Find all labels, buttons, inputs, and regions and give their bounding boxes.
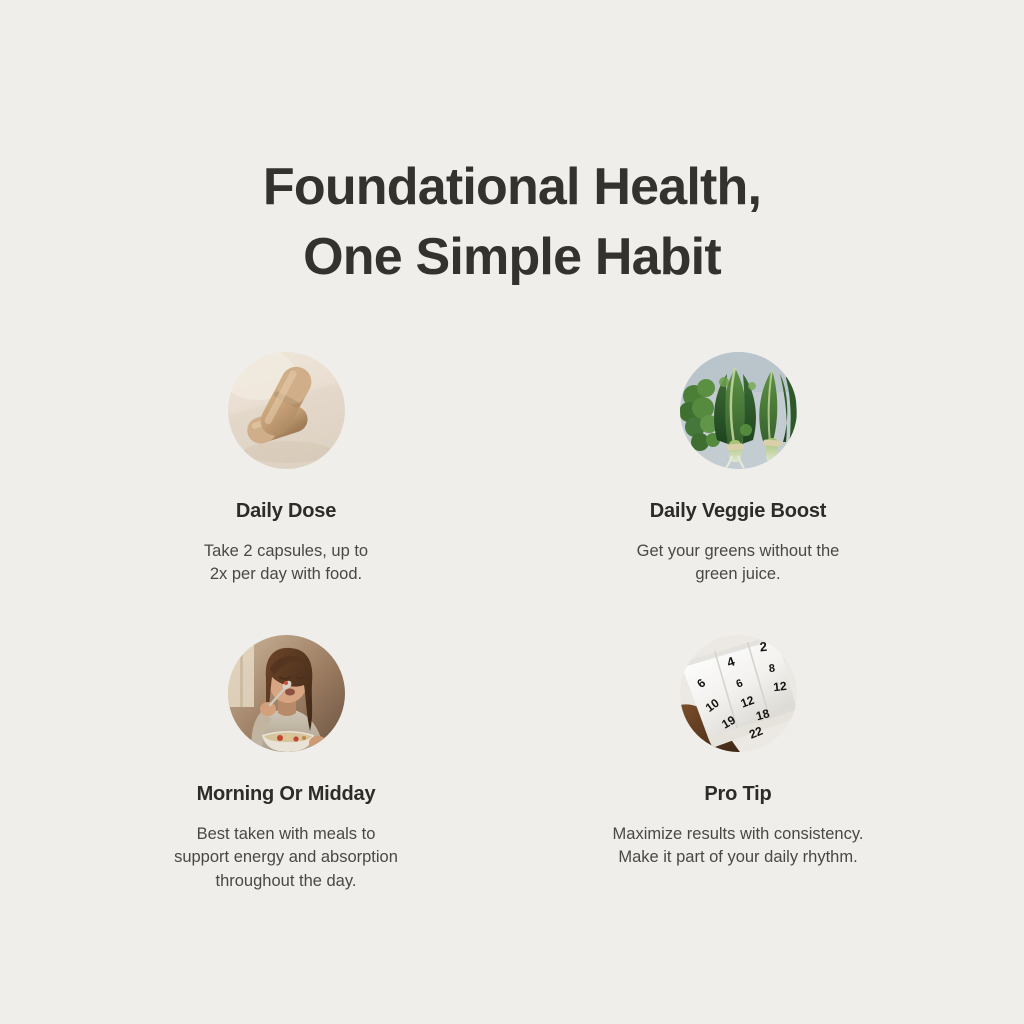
- card-title: Morning Or Midday: [197, 782, 376, 806]
- feature-card-pro-tip: 6 4 2 6 8 10 12 12 19 18 22: [512, 635, 964, 893]
- card-body: Get your greens without the green juice.: [637, 540, 840, 587]
- card-title: Daily Dose: [236, 499, 336, 523]
- card-body: Maximize results with consistency. Make …: [613, 823, 864, 870]
- feature-card-daily-dose: Daily Dose Take 2 capsules, up to 2x per…: [60, 352, 512, 635]
- leafy-greens-photo: [680, 352, 797, 469]
- page-title-line-2: One Simple Habit: [0, 223, 1024, 293]
- capsules-photo: [228, 352, 345, 469]
- feature-card-morning-or-midday: Morning Or Midday Best taken with meals …: [60, 635, 512, 893]
- feature-card-daily-veggie-boost: Daily Veggie Boost Get your greens witho…: [512, 352, 964, 635]
- page-title: Foundational Health, One Simple Habit: [0, 153, 1024, 292]
- svg-text:8: 8: [768, 663, 775, 676]
- card-body: Take 2 capsules, up to 2x per day with f…: [204, 540, 368, 587]
- calendar-pages-photo: 6 4 2 6 8 10 12 12 19 18 22: [680, 635, 797, 752]
- card-title: Daily Veggie Boost: [650, 499, 826, 523]
- card-body: Best taken with meals to support energy …: [174, 823, 398, 893]
- svg-text:12: 12: [772, 679, 787, 694]
- woman-eating-photo: [228, 635, 345, 752]
- infographic-page: Foundational Health, One Simple Habit: [0, 0, 1024, 1024]
- feature-grid: Daily Dose Take 2 capsules, up to 2x per…: [60, 352, 964, 893]
- page-title-line-1: Foundational Health,: [0, 153, 1024, 223]
- card-title: Pro Tip: [704, 782, 771, 806]
- svg-text:2: 2: [758, 639, 767, 655]
